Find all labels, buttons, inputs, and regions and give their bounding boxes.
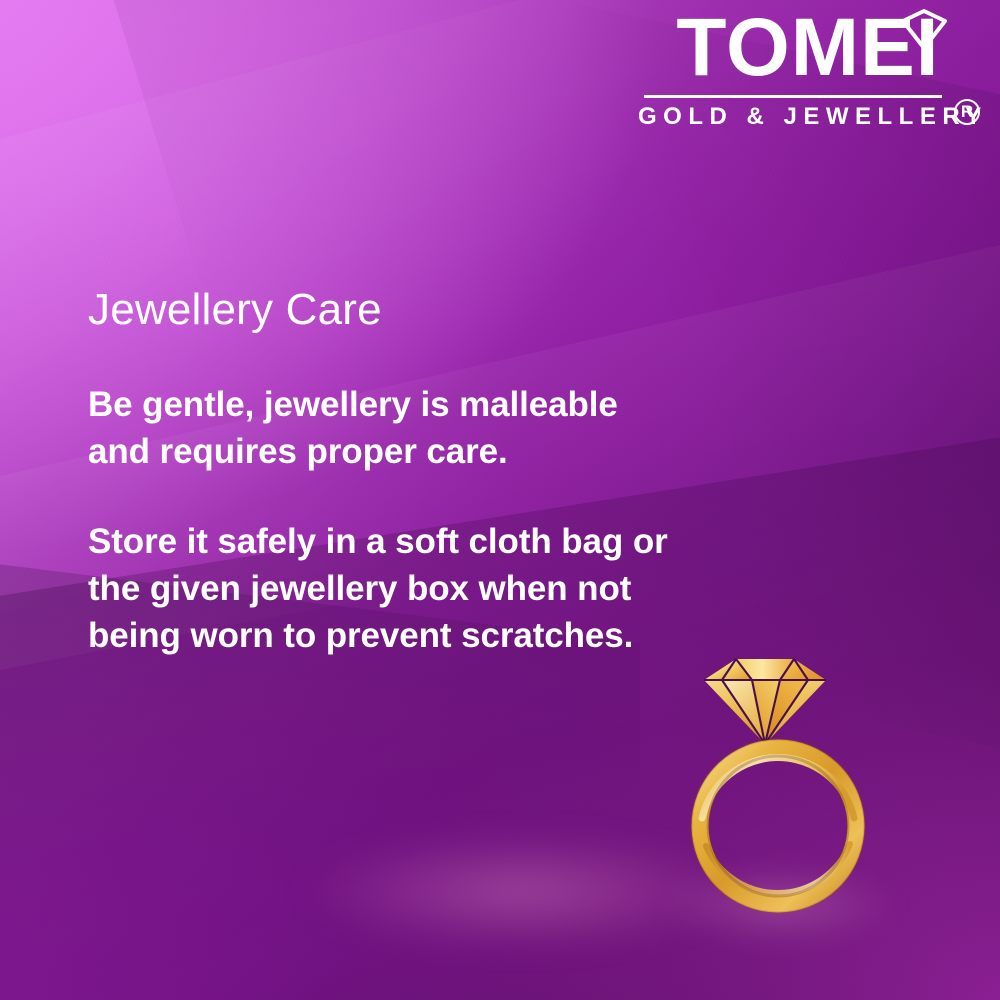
copy-block: Jewellery Care Be gentle, jewellery is m… (88, 286, 688, 659)
brand-tagline: GOLD & JEWELLERY (638, 103, 948, 131)
registered-trademark-icon: R (954, 99, 980, 125)
tomei-logo: TOMEI R GOLD & JEWELLERY (638, 6, 978, 131)
care-paragraph-2: Store it safely in a soft cloth bag or t… (88, 519, 688, 659)
jewellery-care-poster: TOMEI R GOLD & JEWELLERY Jewellery Care … (0, 0, 1000, 1000)
diamond-brilliant-cut-icon (704, 659, 826, 744)
page-title: Jewellery Care (88, 286, 688, 334)
logo-divider-rule (644, 95, 942, 98)
diamond-ring-illustration (690, 632, 900, 922)
care-paragraph-1: Be gentle, jewellery is malleable and re… (88, 382, 688, 475)
brand-wordmark: TOMEI (638, 6, 978, 90)
gold-ring-icon (692, 740, 865, 913)
